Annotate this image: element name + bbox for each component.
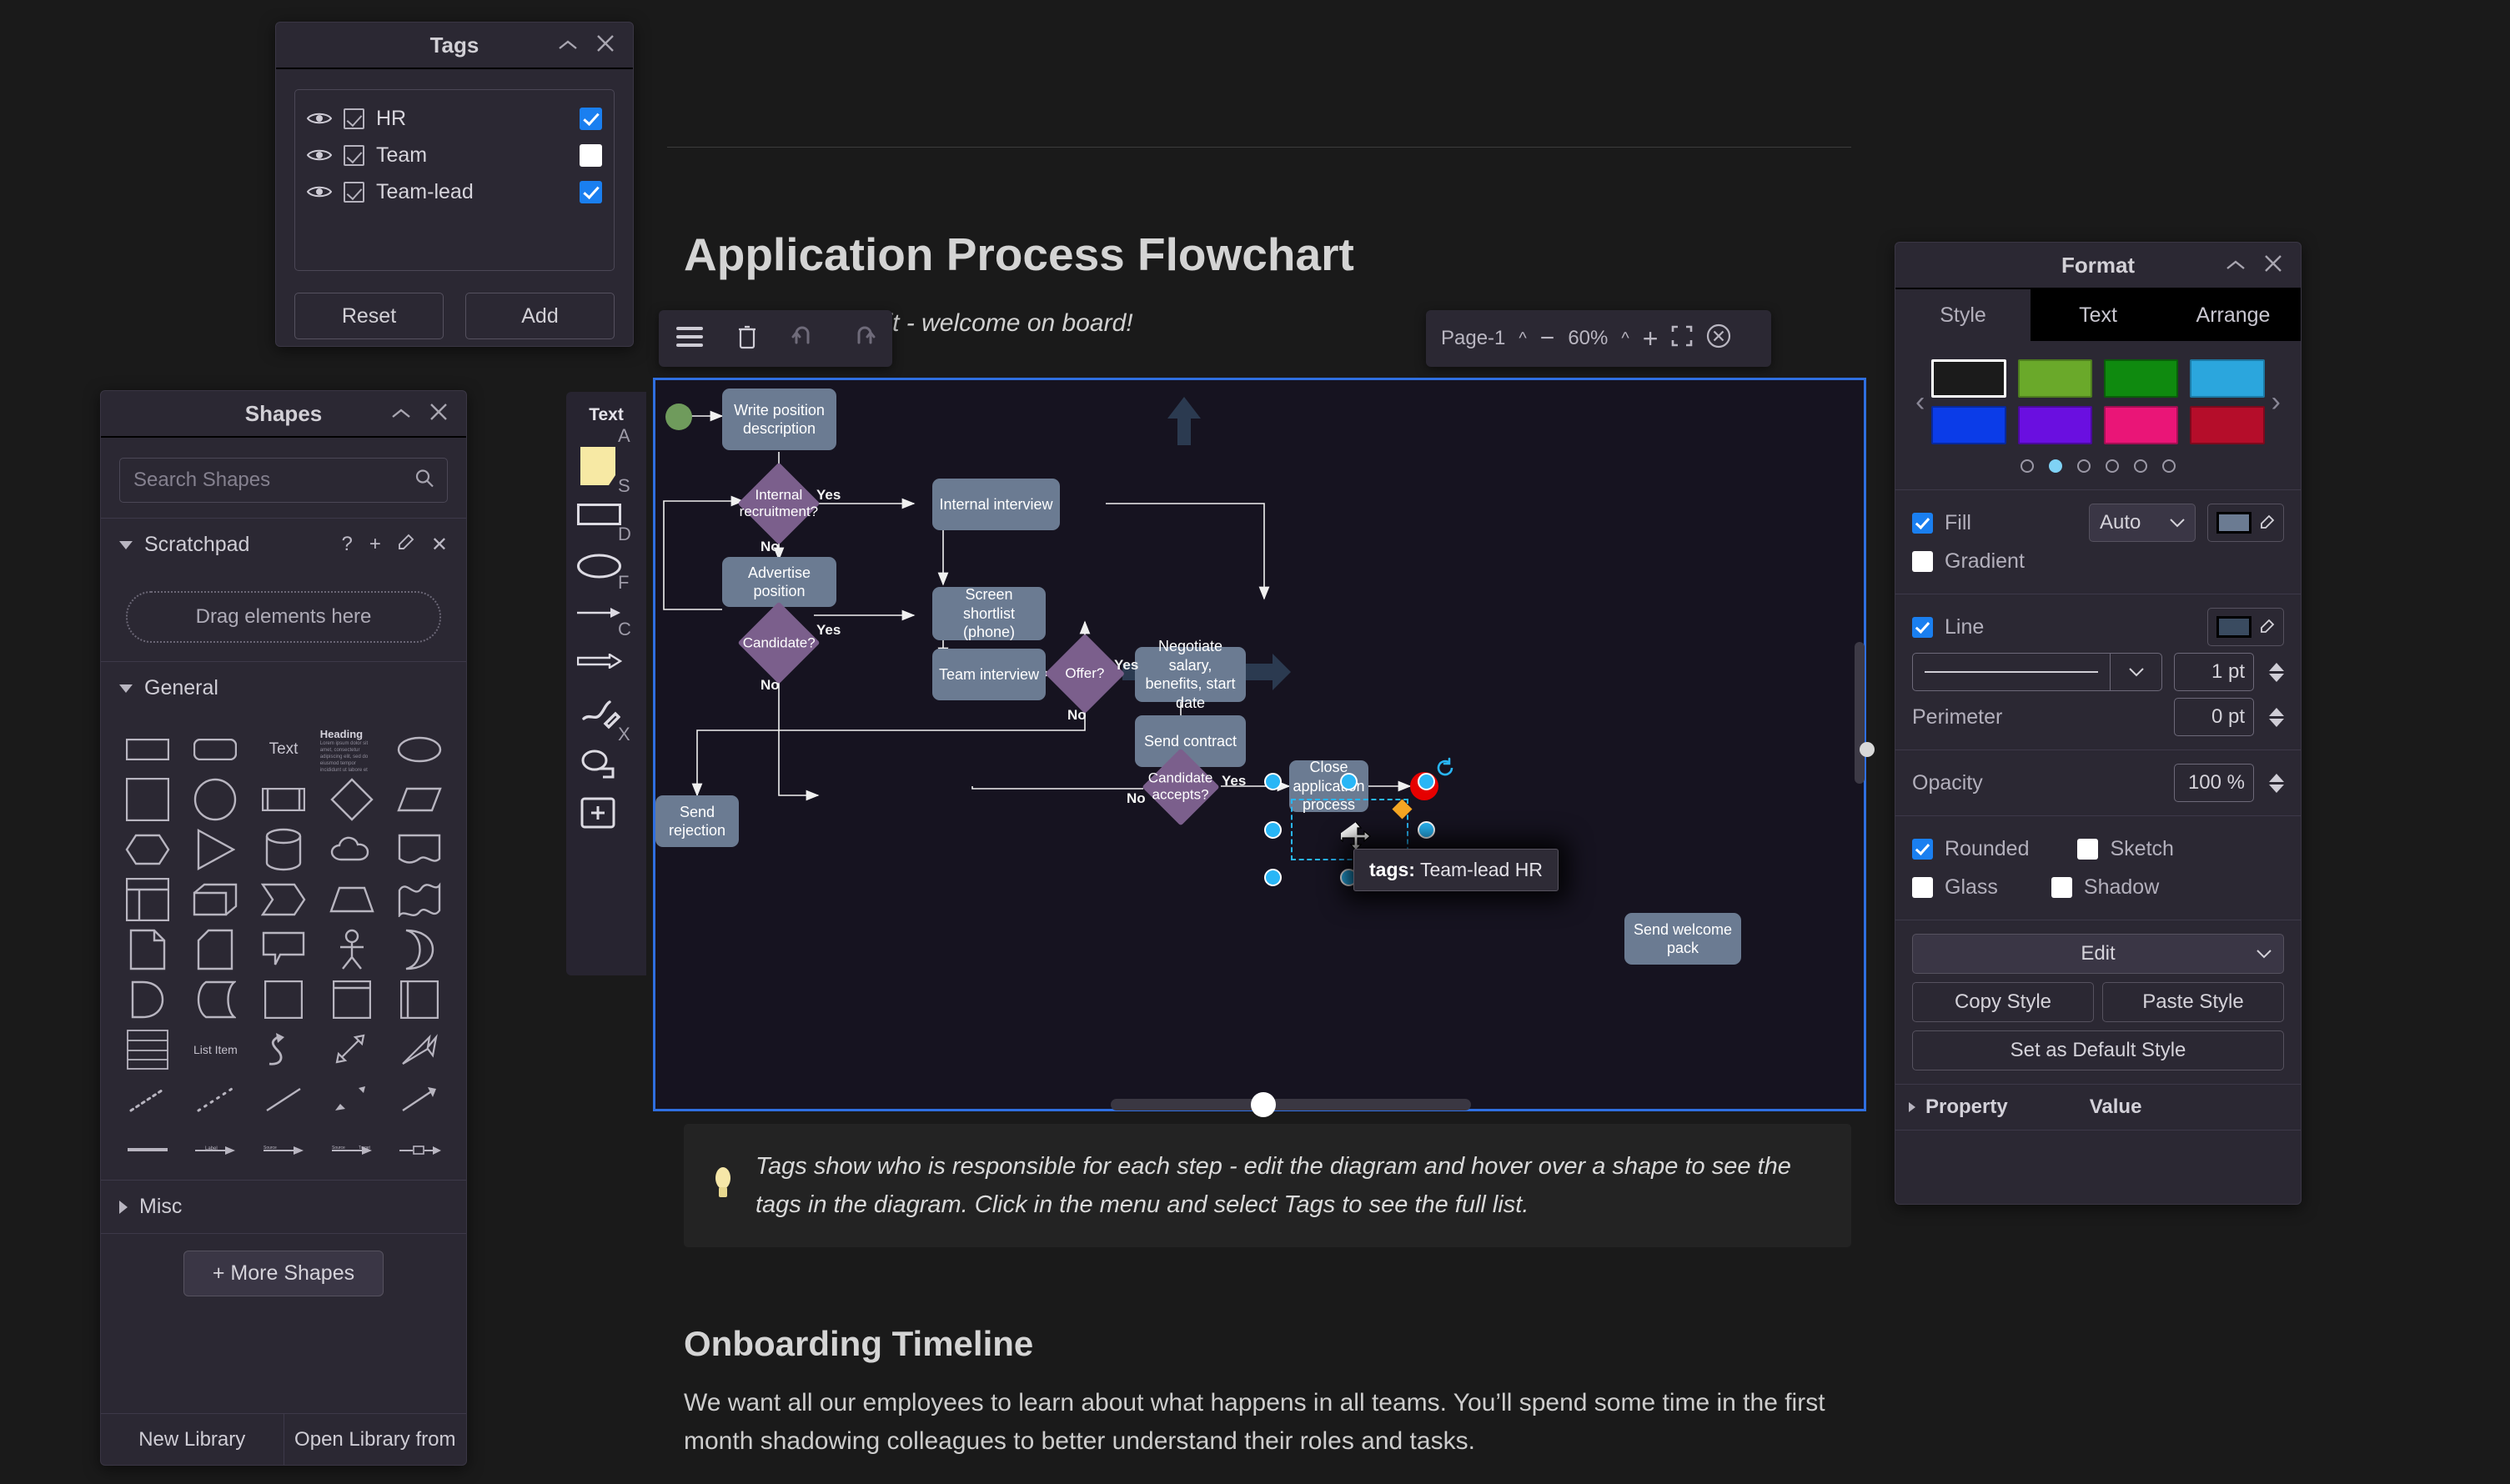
shape-diamond[interactable] [320, 778, 384, 821]
shape-callout[interactable] [252, 928, 315, 971]
search-shapes-input[interactable] [119, 458, 448, 503]
perimeter-label: Perimeter [1912, 705, 2002, 729]
node-send-rejection[interactable]: Send rejection [655, 795, 739, 847]
shape-half-circle[interactable] [116, 978, 179, 1021]
freehand-tool[interactable] [580, 694, 620, 730]
zoom-in-button[interactable]: + [1643, 323, 1659, 354]
close-scratchpad-icon[interactable]: ✕ [431, 533, 448, 557]
selection-handle-w[interactable] [1264, 821, 1282, 839]
shape-square[interactable] [116, 778, 179, 821]
glass-label: Glass [1945, 875, 1998, 900]
style-swatch-lightgreen[interactable] [2018, 359, 2092, 398]
edge-label-d2-no: No [761, 677, 780, 694]
opacity-value[interactable]: 100 % [2174, 764, 2254, 802]
shape-cylinder[interactable] [252, 828, 315, 871]
shape-ellipse[interactable] [388, 728, 451, 771]
chevron-down-icon [119, 541, 133, 549]
chevron-right-icon [119, 1201, 128, 1214]
node-send-welcome-pack[interactable]: Send welcome pack [1624, 913, 1741, 965]
tab-style[interactable]: Style [1895, 289, 2031, 341]
section-header-scratchpad[interactable]: Scratchpad ? + ✕ [101, 518, 466, 571]
style-palette: ‹ › [1895, 341, 2301, 444]
text-tool-key: A [618, 425, 630, 447]
shape-list-box[interactable] [116, 1028, 179, 1071]
shape-card[interactable] [184, 928, 248, 971]
edge-label-d3-no: No [1067, 707, 1087, 724]
note-tool[interactable] [580, 447, 615, 485]
open-library-button[interactable]: Open Library from [284, 1414, 467, 1465]
gradient-row: Gradient [1912, 542, 2284, 580]
lightbulb-icon [709, 1165, 737, 1207]
shape-chevron-arrow[interactable] [252, 878, 315, 921]
glass-checkbox[interactable] [1912, 877, 1933, 898]
page-selector-label[interactable]: Page-1 [1441, 327, 1505, 350]
insert-tool[interactable] [580, 797, 615, 829]
selection-handle-nw[interactable] [1264, 773, 1282, 790]
shapes-window: Shapes Scratchpad ? + [100, 390, 467, 1466]
style-actions-section: Edit Copy Style Paste Style Set as Defau… [1895, 920, 2301, 1084]
shape-double-arrow-outline[interactable] [320, 1028, 384, 1071]
arrow-tool[interactable] [577, 654, 622, 669]
node-advertise-position[interactable]: Advertise position [722, 557, 836, 607]
opacity-label: Opacity [1912, 771, 1983, 795]
shape-note[interactable] [116, 928, 179, 971]
tag-row-hr[interactable]: HR [307, 100, 602, 137]
fill-section: Fill Auto Gradient [1895, 489, 2301, 594]
shapes-minimize-icon[interactable] [391, 404, 411, 423]
eye-icon[interactable] [307, 110, 332, 127]
shape-plain-line[interactable] [252, 1078, 315, 1121]
shape-wave[interactable] [388, 878, 451, 921]
canvas-hscroll-knob[interactable] [1251, 1092, 1276, 1117]
shapes-close-icon[interactable] [429, 402, 448, 425]
diagram-canvas[interactable]: Write position description Internal inte… [653, 378, 1866, 1111]
shape-table[interactable] [116, 878, 179, 921]
style-swatch-blue[interactable] [1931, 406, 2005, 444]
tag-label: HR [376, 107, 568, 131]
shape-list-item[interactable]: List Item [184, 1028, 248, 1071]
reset-button[interactable]: Reset [294, 293, 444, 339]
line-label: Line [1945, 615, 1984, 639]
section-header-misc[interactable]: Misc [101, 1180, 466, 1233]
value-header: Value [2090, 1095, 2142, 1119]
sketch-checkbox[interactable] [2077, 839, 2098, 860]
connector-tool[interactable] [577, 607, 622, 619]
shape-circle[interactable] [184, 778, 248, 821]
format-close-icon[interactable] [2264, 253, 2282, 277]
tag-select-checkbox[interactable] [580, 181, 602, 203]
edge-label-d2-yes: Yes [816, 622, 841, 639]
opacity-section: Opacity 100 % [1895, 750, 2301, 815]
tag-row-team-lead[interactable]: Team-lead [307, 173, 602, 210]
line-width-value[interactable]: 1 pt [2174, 653, 2254, 691]
line-checkbox[interactable] [1912, 617, 1933, 638]
rotate-icon[interactable] [1434, 757, 1456, 783]
tag-tooltip: tags: Team-lead HR [1353, 849, 1559, 891]
section-body-onboarding: We want all our employees to learn about… [684, 1384, 1835, 1460]
line-width-stepper[interactable] [2269, 663, 2284, 682]
shape-actor[interactable] [320, 928, 384, 971]
edge-label-d3-yes: Yes [1114, 657, 1138, 674]
palette-page-5[interactable] [2134, 459, 2147, 473]
tags-close-icon[interactable] [596, 33, 615, 57]
redo-icon[interactable] [851, 326, 876, 352]
shape-heading-block[interactable]: Heading Lorem ipsum dolor sit amet, cons… [320, 728, 384, 771]
style-swatch-green[interactable] [2104, 359, 2178, 398]
new-library-button[interactable]: New Library [101, 1414, 284, 1465]
edge-label-d1-yes: Yes [816, 487, 841, 504]
selection-handle-n[interactable] [1340, 773, 1358, 790]
shape-arrow-outline[interactable] [388, 1028, 451, 1071]
eyedropper-icon [2258, 514, 2275, 531]
canvas-hscrollbar[interactable] [1111, 1099, 1471, 1110]
opacity-row: Opacity 100 % [1912, 764, 2284, 802]
close-editor-icon[interactable] [1706, 323, 1731, 354]
tag-enable-checkbox[interactable] [344, 108, 364, 129]
perimeter-stepper[interactable] [2269, 708, 2284, 727]
shape-rectangle[interactable] [116, 728, 179, 771]
canvas-resize-handle[interactable] [1860, 742, 1875, 757]
shape-document[interactable] [388, 828, 451, 871]
fill-mode-select[interactable]: Auto [2089, 504, 2196, 542]
line-style-select[interactable] [1912, 653, 2162, 691]
format-window-title: Format [2061, 253, 2135, 278]
palette-page-4[interactable] [2106, 459, 2119, 473]
line-row: Line [1912, 608, 2284, 646]
misc-label: Misc [139, 1195, 182, 1219]
rounded-sketch-row: Rounded Sketch [1912, 830, 2284, 868]
chevron-right-icon [1909, 1102, 1915, 1112]
rectangle-tool[interactable] [577, 504, 621, 525]
sketch-label: Sketch [2110, 837, 2173, 861]
gradient-checkbox[interactable] [1912, 551, 1933, 572]
shape-source-connector[interactable]: Source [252, 1128, 315, 1171]
shape-vertical-container[interactable] [388, 978, 451, 1021]
fill-color-button[interactable] [2207, 504, 2284, 542]
shape-dashed-line[interactable] [184, 1078, 248, 1121]
format-tabs: Style Text Arrange [1895, 289, 2301, 341]
line-section: Line 1 pt Perimeter [1895, 594, 2301, 750]
canvas-vscrollbar[interactable] [1855, 642, 1865, 784]
edit-style-button[interactable]: Edit [1912, 934, 2284, 974]
fill-checkbox[interactable] [1912, 513, 1933, 534]
node-write-position-description[interactable]: Write position description [722, 389, 836, 450]
shape-triangle[interactable] [184, 828, 248, 871]
page-chevron-up-icon[interactable]: ^ [1519, 329, 1526, 348]
gradient-label: Gradient [1945, 549, 2025, 574]
shape-rounded-rectangle[interactable] [184, 728, 248, 771]
tag-row-team[interactable]: Team [307, 137, 602, 173]
tags-window-title-bar: Tags [276, 23, 633, 69]
selection-handle-e[interactable] [1418, 821, 1435, 839]
palette-page-6[interactable] [2162, 459, 2176, 473]
zoom-out-button[interactable]: − [1540, 324, 1555, 353]
search-icon[interactable] [414, 469, 434, 493]
tip-text: Tags show who is responsible for each st… [756, 1147, 1826, 1225]
shape-dotted-line[interactable] [116, 1078, 179, 1121]
shape-single-arrow[interactable] [388, 1078, 451, 1121]
shape-plain-connector[interactable] [116, 1128, 179, 1171]
text-tool[interactable]: Text [566, 399, 646, 432]
format-minimize-icon[interactable] [2226, 256, 2246, 274]
format-window-title-bar: Format [1895, 243, 2301, 289]
shape-source-target-connector[interactable]: SourceTarget [320, 1128, 384, 1171]
line-color-button[interactable] [2207, 608, 2284, 646]
palette-page-1[interactable] [2021, 459, 2034, 473]
edge-label-d4-yes: Yes [1222, 773, 1246, 790]
rounded-checkbox[interactable] [1912, 839, 1933, 860]
perimeter-row: Perimeter 0 pt [1912, 698, 2284, 736]
tags-minimize-icon[interactable] [558, 36, 578, 54]
shapes-window-title: Shapes [245, 401, 323, 427]
shape-process[interactable] [252, 778, 315, 821]
tab-arrange[interactable]: Arrange [2166, 289, 2301, 341]
scratchpad-label: Scratchpad [144, 533, 249, 557]
general-label: General [144, 676, 218, 700]
palette-next-icon[interactable]: › [2265, 386, 2287, 419]
tag-label: Team-lead [376, 180, 568, 204]
ellipse-tool[interactable] [576, 554, 622, 579]
more-shapes-wrap: + More Shapes [101, 1233, 466, 1316]
undo-icon[interactable] [791, 326, 816, 352]
tag-enable-checkbox[interactable] [344, 145, 364, 166]
header-rule [667, 147, 1851, 148]
page-zoom-bar: Page-1 ^ − 60% ^ + [1426, 310, 1771, 367]
tooltip-value: Team-lead HR [1420, 859, 1543, 880]
shapes-tool[interactable] [580, 749, 617, 779]
shape-cloud[interactable] [320, 828, 384, 871]
tags-window: Tags HR [275, 22, 634, 347]
chevron-down-icon [2256, 950, 2272, 959]
shape-bidirectional-arrow[interactable] [320, 1078, 384, 1121]
shape-delay[interactable] [184, 978, 248, 1021]
property-header: Property [1925, 1095, 2008, 1119]
zoom-level-label: 60% [1568, 327, 1608, 350]
shadow-label: Shadow [2084, 875, 2159, 900]
note-tool-key: S [618, 475, 630, 497]
svg-text:Source: Source [264, 1146, 277, 1151]
fullscreen-icon[interactable] [1671, 325, 1693, 353]
tab-text[interactable]: Text [2031, 289, 2166, 341]
palette-prev-icon[interactable]: ‹ [1909, 386, 1931, 419]
fill-color-chip [2216, 512, 2251, 534]
scratchpad-dropzone[interactable]: Drag elements here [126, 591, 441, 643]
page-title: Application Process Flowchart [684, 228, 1851, 281]
shape-hexagon[interactable] [116, 828, 179, 871]
shape-text[interactable]: Text [252, 728, 315, 771]
svg-text:Target: Target [359, 1146, 371, 1151]
edge-label-d1-no: No [761, 539, 780, 555]
paste-style-button[interactable]: Paste Style [2102, 982, 2284, 1022]
ellipse-tool-key: F [618, 572, 629, 594]
line-color-chip [2216, 616, 2251, 638]
palette-page-3[interactable] [2077, 459, 2091, 473]
chevron-down-icon[interactable] [2110, 654, 2161, 690]
effects-section: Rounded Sketch Glass Shadow [1895, 815, 2301, 920]
shapes-window-title-bar: Shapes [101, 391, 466, 438]
tags-action-buttons: Reset Add [294, 293, 615, 339]
library-bar: New Library Open Library from [101, 1413, 466, 1465]
style-swatch-red[interactable] [2190, 406, 2264, 444]
shadow-checkbox[interactable] [2051, 877, 2072, 898]
style-swatch-cyan[interactable] [2190, 359, 2264, 398]
selection-handle-sw[interactable] [1264, 869, 1282, 886]
fill-row: Fill Auto [1912, 504, 2284, 542]
node-team-interview[interactable]: Team interview [932, 649, 1046, 700]
edit-pencil-icon[interactable] [398, 533, 414, 557]
search-shapes-wrap [119, 458, 448, 503]
start-terminator[interactable] [665, 404, 692, 430]
editor-toolbar [659, 310, 892, 367]
node-negotiate-salary[interactable]: Negotiate salary, benefits, start date [1135, 647, 1246, 702]
shape-envelope-connector[interactable] [388, 1128, 451, 1171]
svg-text:Label: Label [205, 1146, 218, 1151]
style-swatch-black[interactable] [1931, 359, 2005, 398]
help-icon[interactable]: ? [342, 533, 353, 557]
style-swatch-pink[interactable] [2104, 406, 2178, 444]
node-internal-interview[interactable]: Internal interview [932, 479, 1060, 530]
tags-window-title: Tags [430, 33, 479, 58]
plus-icon[interactable]: + [369, 533, 381, 557]
freehand-tool-key: X [618, 724, 630, 745]
shape-internal-storage[interactable] [320, 978, 384, 1021]
shape-plain-square[interactable] [252, 978, 315, 1021]
eyedropper-icon [2258, 619, 2275, 635]
edge-label-d4-no: No [1127, 790, 1146, 807]
tooltip-prefix: tags: [1369, 859, 1415, 880]
more-shapes-button[interactable]: + More Shapes [183, 1251, 384, 1296]
style-swatch-purple[interactable] [2018, 406, 2092, 444]
palette-pager [1895, 444, 2301, 489]
menu-icon[interactable] [676, 326, 703, 352]
section-header-general[interactable]: General [101, 661, 466, 714]
tag-select-checkbox[interactable] [580, 108, 602, 130]
fill-label: Fill [1945, 511, 1971, 535]
shape-cube[interactable] [184, 878, 248, 921]
shape-labeled-connector[interactable]: Label [184, 1128, 248, 1171]
zoom-chevron-up-icon[interactable]: ^ [1621, 329, 1629, 348]
tag-label: Team [376, 143, 568, 168]
shape-curved-arrow[interactable] [252, 1028, 315, 1071]
chevron-down-icon [2170, 519, 2185, 528]
selection-handle-ne[interactable] [1418, 773, 1435, 790]
shape-parallelogram[interactable] [388, 778, 451, 821]
shape-trapezoid[interactable] [320, 878, 384, 921]
glass-shadow-row: Glass Shadow [1912, 868, 2284, 906]
set-default-style-button[interactable]: Set as Default Style [1912, 1030, 2284, 1070]
opacity-stepper[interactable] [2269, 774, 2284, 793]
section-title-onboarding: Onboarding Timeline [684, 1324, 1835, 1364]
copy-style-button[interactable]: Copy Style [1912, 982, 2094, 1022]
tag-enable-checkbox[interactable] [344, 182, 364, 203]
property-value-header[interactable]: Property Value [1895, 1084, 2301, 1131]
line-style-row: 1 pt [1912, 653, 2284, 691]
svg-text:Source: Source [332, 1146, 345, 1151]
shape-palette-general: Text Heading Lorem ipsum dolor sit amet,… [101, 714, 466, 1180]
format-window: Format Style Text Arrange ‹ [1895, 242, 2302, 1205]
canvas-left-toolbar: Text A S D F C X [566, 392, 646, 975]
tags-list: HR Team Team-l [294, 89, 615, 271]
chevron-down-icon [119, 684, 133, 693]
shape-crescent[interactable] [388, 928, 451, 971]
add-button[interactable]: Add [465, 293, 615, 339]
eye-icon[interactable] [307, 147, 332, 163]
tag-select-checkbox[interactable] [580, 144, 602, 167]
tip-callout: Tags show who is responsible for each st… [684, 1124, 1851, 1247]
node-screen-shortlist[interactable]: Screen shortlist (phone) [932, 587, 1046, 640]
connector-tool-key: C [618, 619, 631, 640]
delete-icon[interactable] [737, 324, 757, 353]
eye-icon[interactable] [307, 183, 332, 200]
palette-page-2[interactable] [2049, 459, 2062, 473]
rectangle-tool-key: D [618, 524, 631, 545]
rounded-label: Rounded [1945, 837, 2029, 861]
perimeter-value[interactable]: 0 pt [2174, 698, 2254, 736]
